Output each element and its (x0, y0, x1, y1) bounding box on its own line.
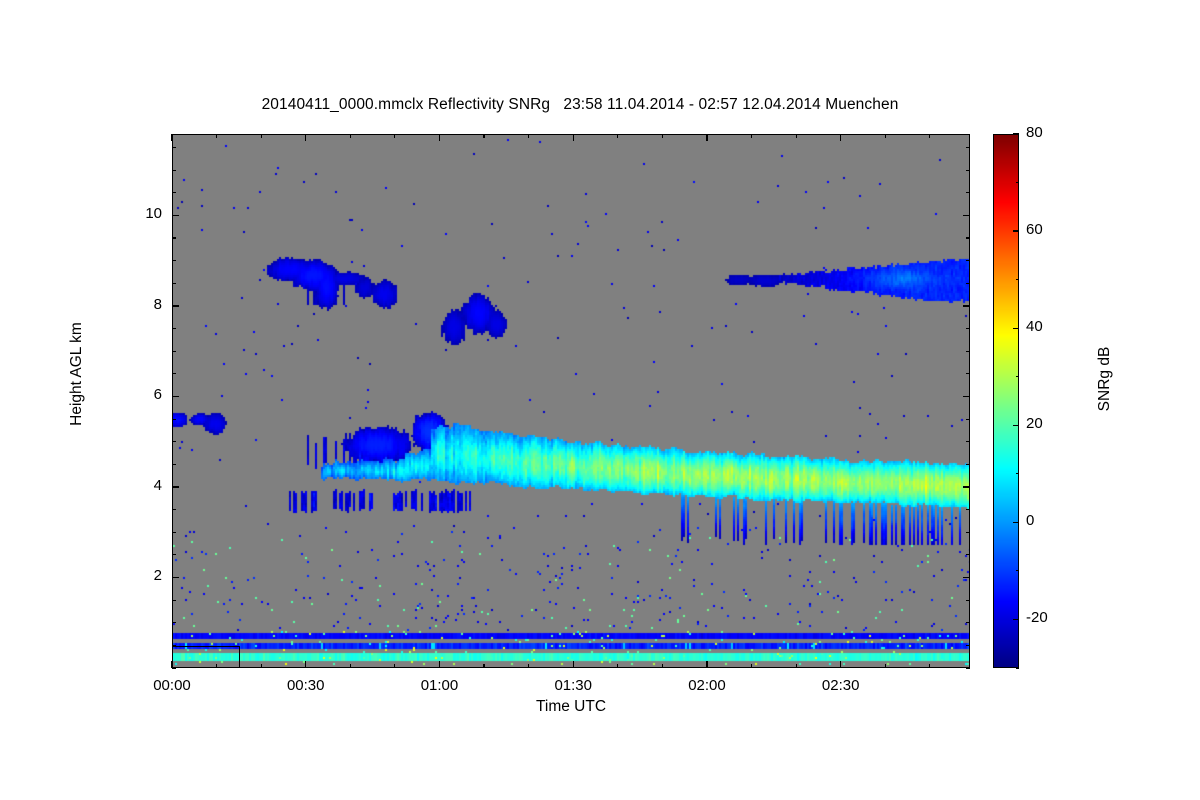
reflectivity-heatmap-axes[interactable] (172, 134, 970, 668)
y-tick-minor (172, 554, 176, 555)
y-tick-major (172, 305, 179, 306)
y-tick-label: 10 (102, 205, 162, 222)
y-tick-right (963, 215, 970, 216)
x-axis-label: Time UTC (172, 698, 970, 716)
colorbar-tick-major (1013, 522, 1019, 523)
colorbar-tick-label: 40 (1026, 318, 1043, 335)
colorbar-tick-label: 0 (1026, 512, 1034, 529)
colorbar-tick-major (1013, 133, 1019, 134)
x-tick-minor (483, 664, 484, 668)
x-tick-top (662, 134, 663, 138)
y-tick-minor (172, 170, 176, 171)
y-tick-major (172, 577, 179, 578)
y-tick-label: 8 (102, 296, 162, 313)
y-tick-minor (172, 419, 176, 420)
y-tick-right (966, 328, 970, 329)
y-tick-right (963, 577, 970, 578)
x-tick-top (350, 134, 351, 138)
colorbar-tick-minor (1016, 182, 1020, 183)
x-tick-top (885, 134, 886, 138)
y-tick-minor (172, 192, 176, 193)
y-tick-major (172, 396, 179, 397)
colorbar-tick-major (1013, 619, 1019, 620)
colorbar-tick-minor (1016, 376, 1020, 377)
x-tick-top (216, 134, 217, 138)
y-tick-right (966, 509, 970, 510)
y-tick-minor (172, 667, 176, 668)
x-tick-minor (929, 664, 930, 668)
y-tick-minor (172, 622, 176, 623)
y-tick-major (172, 215, 179, 216)
y-tick-minor (172, 328, 176, 329)
colorbar-tick-label: 80 (1026, 124, 1043, 141)
y-tick-label: 2 (102, 567, 162, 584)
colorbar-tick-major (1013, 328, 1019, 329)
x-tick-minor (261, 664, 262, 668)
x-tick-label: 01:00 (394, 677, 484, 694)
x-tick-minor (885, 664, 886, 668)
x-tick-top (617, 134, 618, 138)
y-tick-minor (172, 237, 176, 238)
y-tick-right (966, 419, 970, 420)
x-tick-label: 00:00 (127, 677, 217, 694)
colorbar-label: SNRg dB (1096, 279, 1114, 479)
y-tick-right (966, 373, 970, 374)
x-tick-top (929, 134, 930, 138)
colorbar[interactable] (993, 134, 1019, 668)
y-tick-right (966, 147, 970, 148)
y-tick-right (966, 260, 970, 261)
y-tick-right (966, 283, 970, 284)
y-tick-major (172, 486, 179, 487)
y-tick-right (966, 554, 970, 555)
y-tick-right (966, 667, 970, 668)
y-tick-right (963, 305, 970, 306)
y-tick-minor (172, 532, 176, 533)
x-tick-label: 01:30 (528, 677, 618, 694)
reflectivity-heatmap (173, 135, 970, 668)
x-tick-top (483, 134, 484, 138)
x-tick-label: 00:30 (261, 677, 351, 694)
colorbar-gradient (994, 135, 1019, 668)
y-tick-minor (172, 464, 176, 465)
y-tick-label: 4 (102, 477, 162, 494)
y-tick-right (966, 351, 970, 352)
y-tick-label: 6 (102, 386, 162, 403)
colorbar-tick-major (1013, 230, 1019, 231)
x-tick-minor (394, 664, 395, 668)
y-tick-minor (172, 645, 176, 646)
x-tick-major (840, 661, 841, 668)
x-tick-major (706, 661, 707, 668)
x-tick-top (528, 134, 529, 138)
y-tick-minor (172, 283, 176, 284)
figure-canvas: 20140411_0000.mmclx Reflectivity SNRg 23… (0, 0, 1200, 800)
x-tick-top (706, 134, 707, 141)
colorbar-tick-minor (1016, 279, 1020, 280)
x-tick-minor (751, 664, 752, 668)
x-tick-minor (617, 664, 618, 668)
x-tick-top (171, 134, 172, 141)
y-tick-right (966, 237, 970, 238)
x-tick-minor (528, 664, 529, 668)
y-tick-right (963, 396, 970, 397)
y-tick-minor (172, 600, 176, 601)
y-tick-minor (172, 351, 176, 352)
colorbar-tick-major (1013, 425, 1019, 426)
colorbar-tick-minor (1016, 570, 1020, 571)
colorbar-tick-minor (1016, 473, 1020, 474)
x-tick-top (305, 134, 306, 141)
x-tick-minor (350, 664, 351, 668)
x-tick-top (840, 134, 841, 141)
y-tick-minor (172, 373, 176, 374)
y-tick-right (966, 192, 970, 193)
y-tick-minor (172, 509, 176, 510)
x-tick-major (573, 661, 574, 668)
x-tick-major (305, 661, 306, 668)
x-tick-major (439, 661, 440, 668)
x-tick-label: 02:30 (796, 677, 886, 694)
x-tick-top (261, 134, 262, 138)
y-tick-right (966, 464, 970, 465)
colorbar-tick-label: -20 (1026, 609, 1048, 626)
colorbar-tick-label: 20 (1026, 415, 1043, 432)
y-tick-right (966, 532, 970, 533)
x-tick-top (796, 134, 797, 138)
y-tick-right (966, 170, 970, 171)
y-tick-minor (172, 441, 176, 442)
x-tick-minor (662, 664, 663, 668)
y-tick-right (966, 622, 970, 623)
x-tick-minor (796, 664, 797, 668)
y-tick-right (966, 600, 970, 601)
y-tick-right (966, 645, 970, 646)
colorbar-tick-label: 60 (1026, 221, 1043, 238)
colorbar-tick-minor (1016, 667, 1020, 668)
y-axis-label: Height AGL km (68, 274, 86, 474)
x-tick-top (394, 134, 395, 138)
y-tick-right (963, 486, 970, 487)
y-tick-minor (172, 147, 176, 148)
x-tick-minor (216, 664, 217, 668)
x-tick-label: 02:00 (662, 677, 752, 694)
x-tick-top (573, 134, 574, 141)
y-tick-right (966, 441, 970, 442)
x-tick-top (751, 134, 752, 138)
y-tick-minor (172, 260, 176, 261)
x-tick-top (439, 134, 440, 141)
page-title: 20140411_0000.mmclx Reflectivity SNRg 23… (0, 96, 1160, 114)
